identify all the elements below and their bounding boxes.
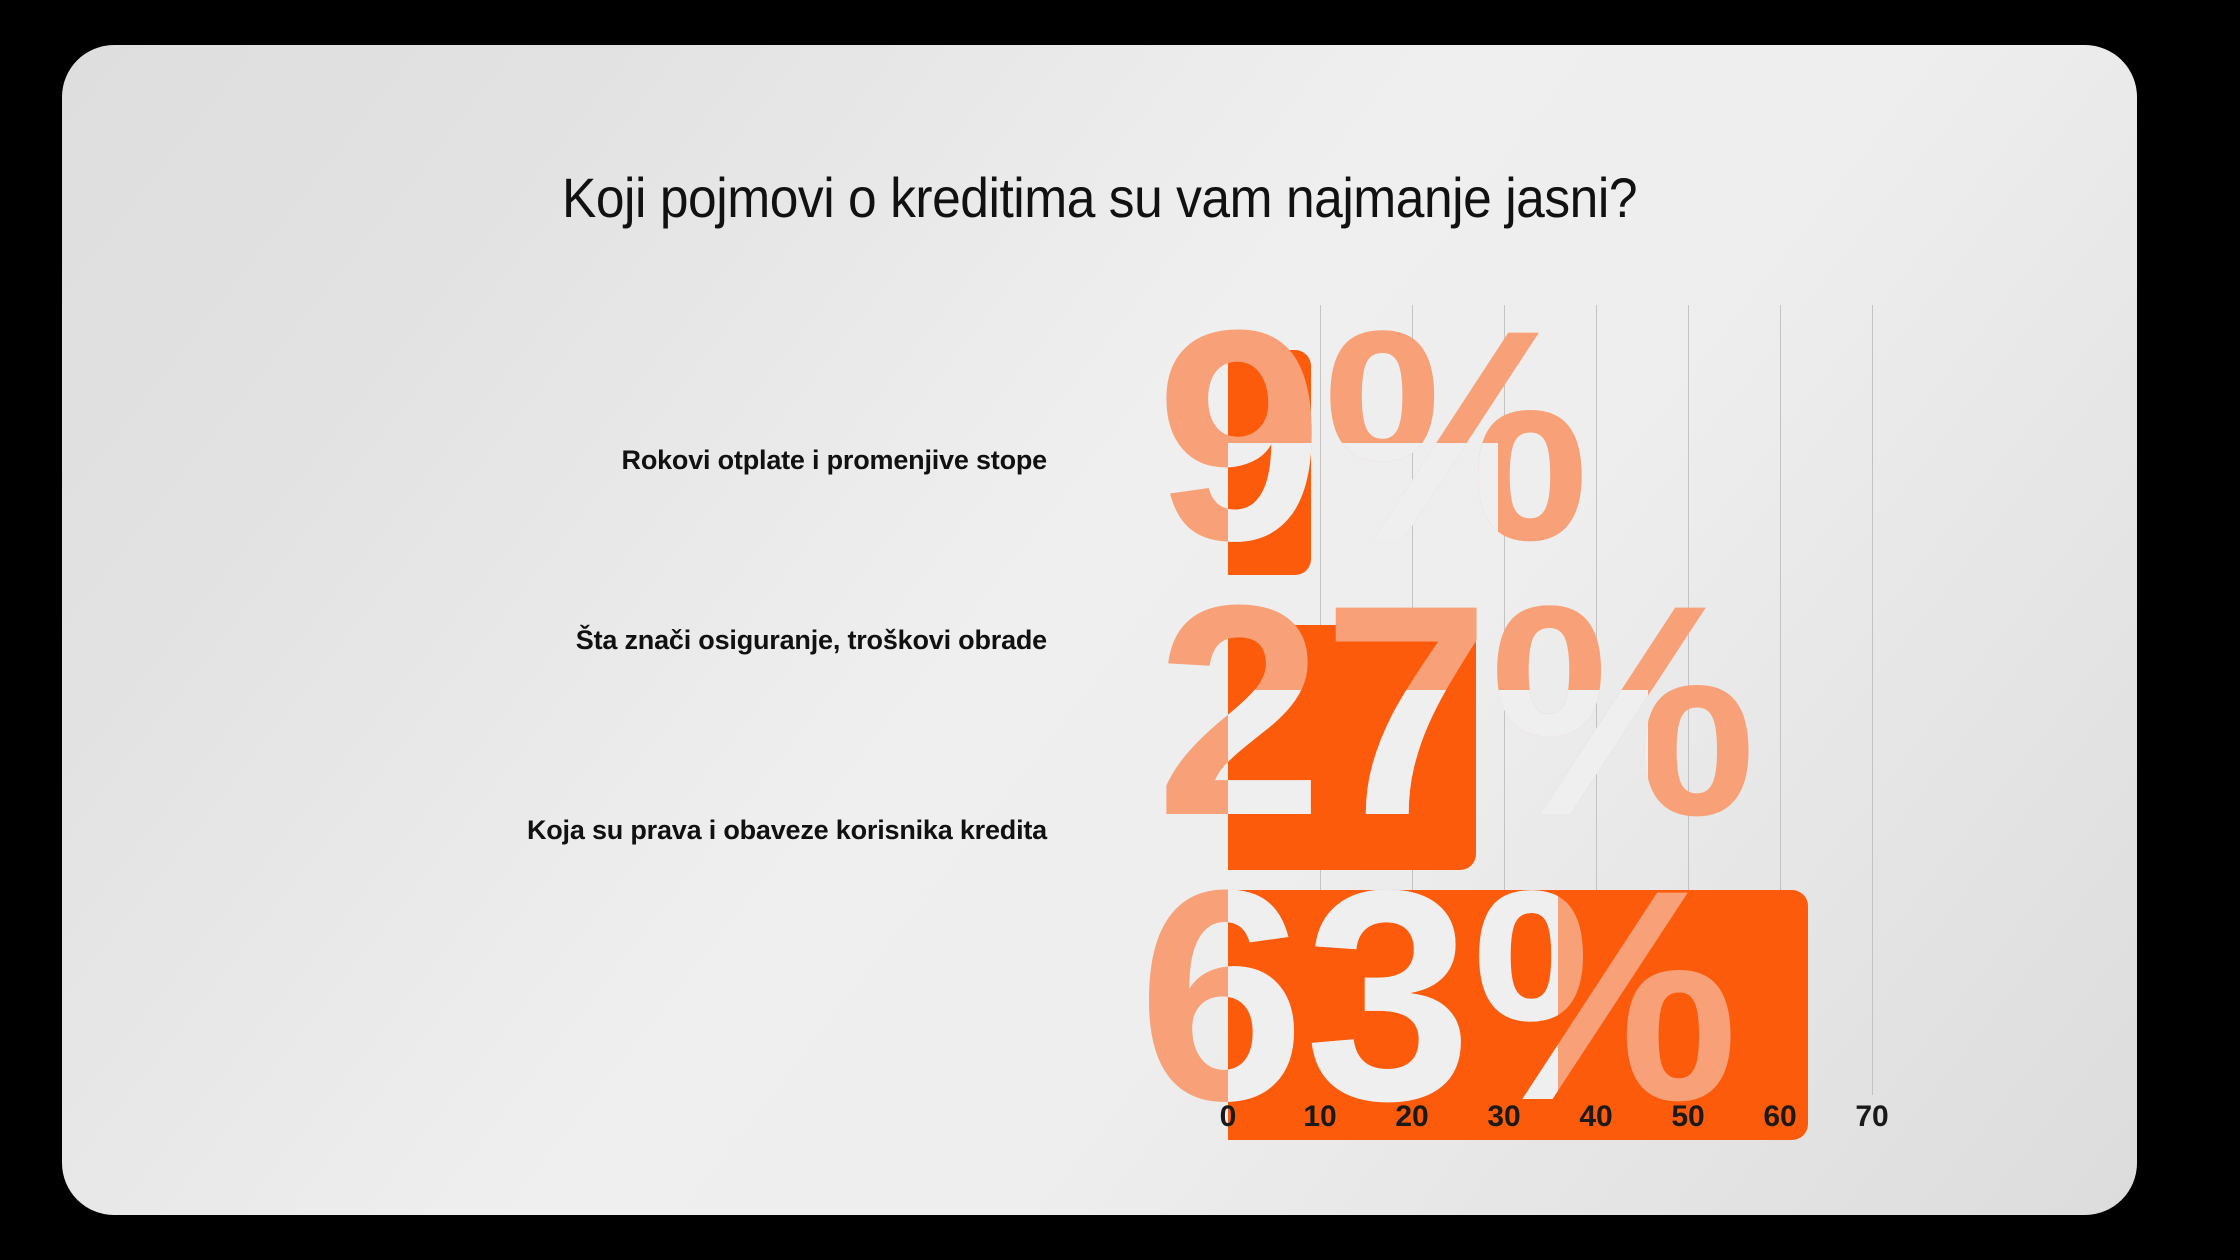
x-tick-20: 20 — [1395, 1100, 1428, 1134]
x-tick-10: 10 — [1303, 1100, 1336, 1134]
bar-series — [1228, 305, 1872, 1095]
x-tick-0: 0 — [1220, 1100, 1237, 1134]
bar-1[interactable] — [1228, 350, 1311, 575]
gridline-70 — [1872, 305, 1873, 1095]
x-tick-50: 50 — [1671, 1100, 1704, 1134]
bar-row[interactable] — [1228, 350, 1872, 575]
category-label-3: Koja su prava i obaveze korisnika kredit… — [527, 815, 1047, 846]
page-background: Koji pojmovi o kreditima su vam najmanje… — [0, 0, 2240, 1260]
bar-2[interactable] — [1228, 625, 1476, 870]
page-title: Koji pojmovi o kreditima su vam najmanje… — [145, 165, 2054, 230]
x-tick-70: 70 — [1855, 1100, 1888, 1134]
chart-card: Koji pojmovi o kreditima su vam najmanje… — [62, 45, 2137, 1215]
bar-row[interactable] — [1228, 625, 1872, 870]
x-tick-30: 30 — [1487, 1100, 1520, 1134]
plot-area — [1228, 305, 1872, 1095]
category-label-1: Rokovi otplate i promenjive stope — [622, 445, 1047, 476]
x-tick-60: 60 — [1763, 1100, 1796, 1134]
x-tick-40: 40 — [1579, 1100, 1612, 1134]
x-axis: 010203040506070 — [1228, 1100, 1872, 1150]
category-label-2: Šta znači osiguranje, troškovi obrade — [576, 625, 1047, 656]
